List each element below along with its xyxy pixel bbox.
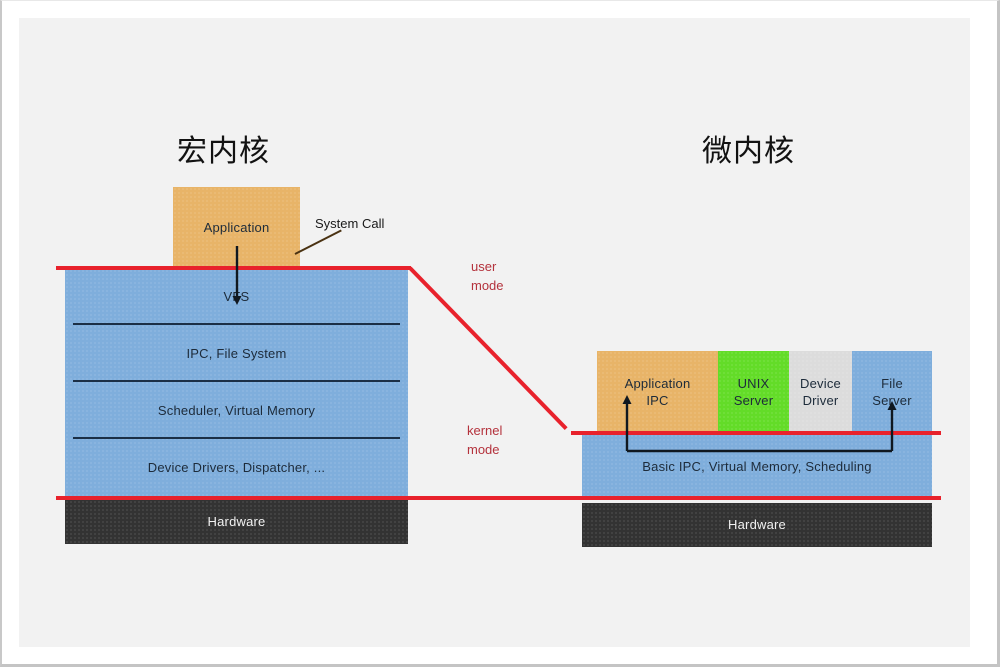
monolithic-layer-scheduler-vm-label: Scheduler, Virtual Memory <box>158 403 315 419</box>
microkernel-hardware-block: Hardware <box>582 503 932 547</box>
microkernel-server-unix-line2: Server <box>734 393 774 408</box>
boundary-line-left-upper <box>56 266 411 270</box>
microkernel-server-file: File Server <box>852 351 932 434</box>
monolithic-hardware-block: Hardware <box>65 500 408 544</box>
microkernel-kernel-band-label: Basic IPC, Virtual Memory, Scheduling <box>642 459 871 475</box>
microkernel-server-unix-line1: UNIX <box>738 376 770 391</box>
microkernel-server-unix: UNIX Server <box>718 351 789 434</box>
microkernel-hardware-label: Hardware <box>728 517 786 533</box>
microkernel-server-application-ipc-line2: IPC <box>646 393 668 408</box>
monolithic-application-label: Application <box>204 220 270 236</box>
microkernel-server-file-label: File Server <box>872 376 912 409</box>
monolithic-layer-vfs: VFS <box>65 269 408 326</box>
title-microkernel: 微内核 <box>702 126 795 170</box>
microkernel-server-device-driver-label: Device Driver <box>800 376 841 409</box>
label-kernel-mode: kernel mode <box>467 422 502 460</box>
microkernel-server-application-ipc-label: Application IPC <box>625 376 691 409</box>
monolithic-hardware-label: Hardware <box>208 514 266 530</box>
microkernel-server-device-driver: Device Driver <box>789 351 852 434</box>
label-user-mode-line2: mode <box>471 277 504 296</box>
microkernel-server-application-ipc: Application IPC <box>597 351 718 434</box>
microkernel-kernel-band: Basic IPC, Virtual Memory, Scheduling <box>582 434 932 500</box>
title-monolithic-kernel: 宏内核 <box>177 126 270 170</box>
monolithic-layer-scheduler-vm: Scheduler, Virtual Memory <box>65 383 408 440</box>
diagram-canvas: 宏内核 微内核 Application VFS IPC, File System… <box>19 18 970 647</box>
monolithic-layer-device-drivers-label: Device Drivers, Dispatcher, ... <box>148 460 325 476</box>
boundary-line-right-upper <box>571 431 941 435</box>
callout-system-call-leader-line <box>295 230 342 255</box>
microkernel-server-device-driver-line2: Driver <box>803 393 839 408</box>
label-kernel-mode-line2: mode <box>467 441 502 460</box>
monolithic-layer-ipc-filesystem-label: IPC, File System <box>187 346 287 362</box>
microkernel-server-application-ipc-line1: Application <box>625 376 691 391</box>
label-user-mode-line1: user <box>471 258 504 277</box>
microkernel-server-device-driver-line1: Device <box>800 376 841 391</box>
microkernel-server-file-line2: Server <box>872 393 912 408</box>
monolithic-layer-device-drivers: Device Drivers, Dispatcher, ... <box>65 440 408 497</box>
monolithic-layer-vfs-label: VFS <box>224 289 250 305</box>
callout-system-call: System Call <box>315 216 384 231</box>
microkernel-server-file-line1: File <box>881 376 903 391</box>
page-frame: 宏内核 微内核 Application VFS IPC, File System… <box>0 0 1000 667</box>
label-user-mode: user mode <box>471 258 504 296</box>
label-kernel-mode-line1: kernel <box>467 422 502 441</box>
monolithic-application-block: Application <box>173 187 300 269</box>
monolithic-layer-ipc-filesystem: IPC, File System <box>65 326 408 383</box>
microkernel-server-unix-label: UNIX Server <box>734 376 774 409</box>
boundary-line-hardware <box>56 496 941 500</box>
